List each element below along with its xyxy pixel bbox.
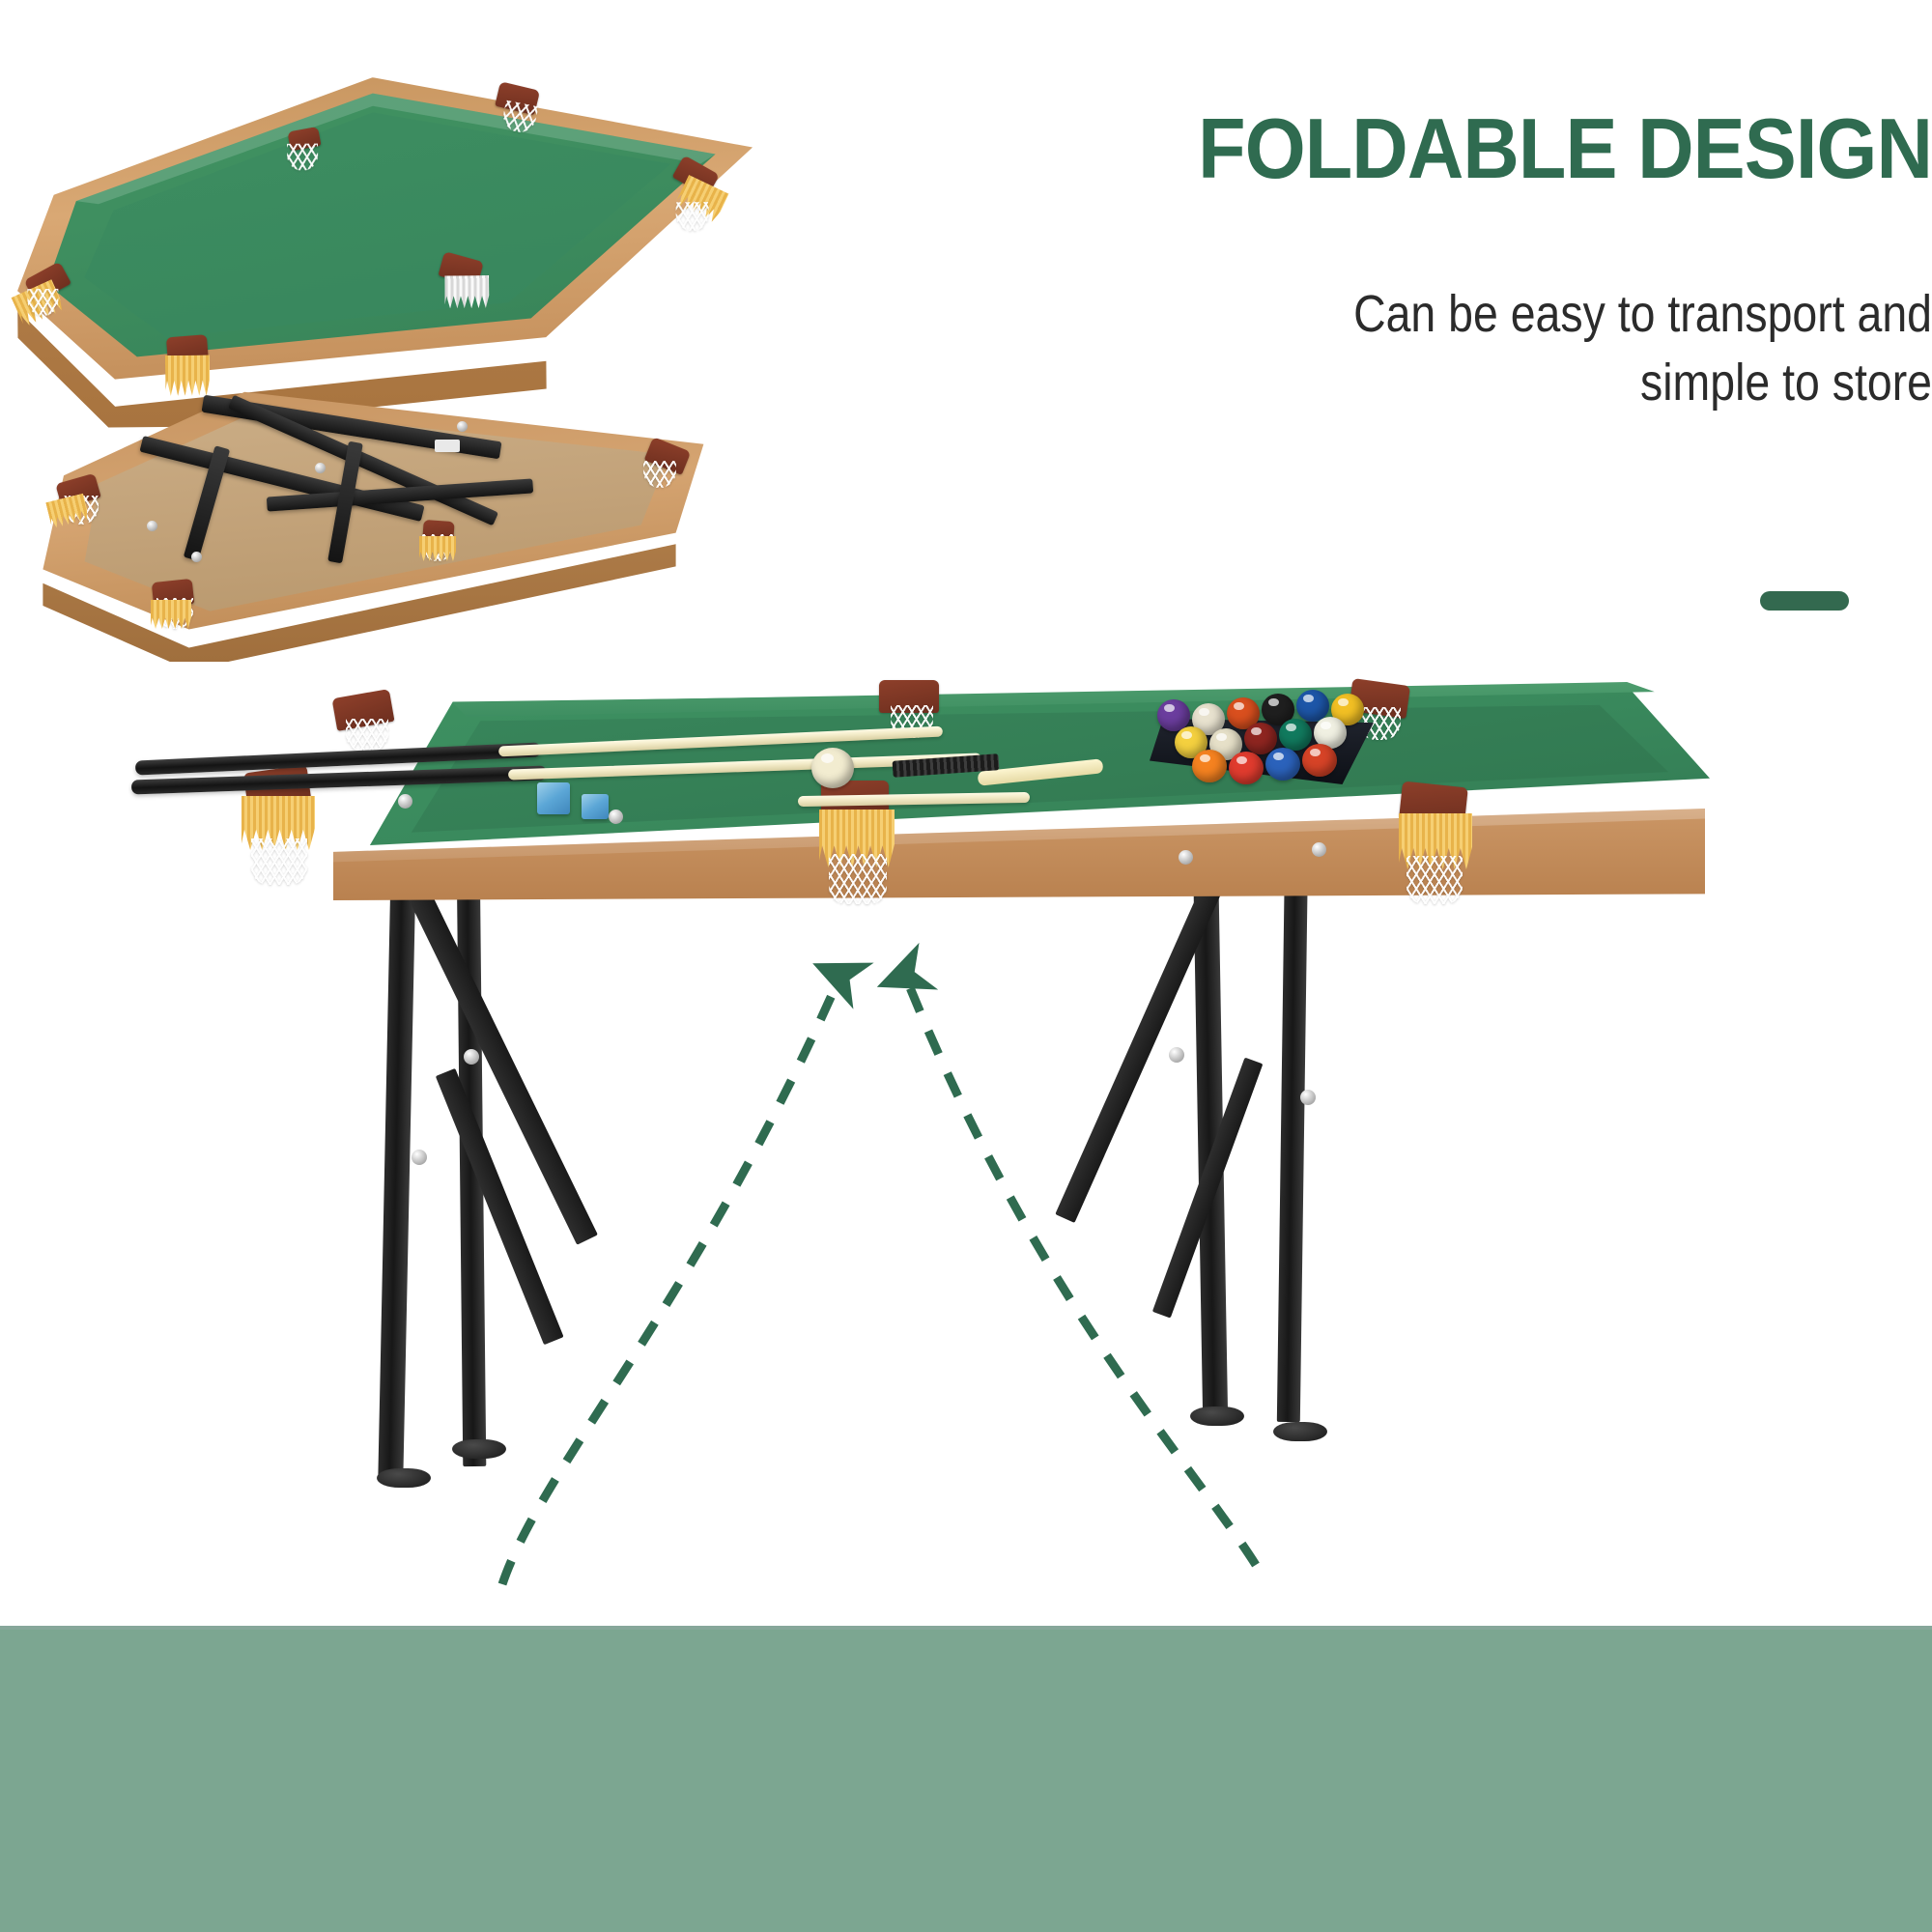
apron-screw-left bbox=[398, 794, 412, 809]
ball-rack-item bbox=[1302, 744, 1337, 777]
subtitle-line-1: Can be easy to transport and bbox=[1168, 280, 1932, 349]
cue-ball bbox=[811, 748, 854, 788]
floor-band bbox=[0, 1626, 1932, 1932]
product-sticker bbox=[435, 440, 460, 452]
leg-rivet-left-lower bbox=[412, 1150, 427, 1165]
apron-screw-right bbox=[1179, 850, 1193, 865]
leg-brace-left-lower bbox=[436, 1068, 564, 1345]
leg-rivet-right-upper bbox=[1169, 1047, 1184, 1063]
apron-screw-mid bbox=[609, 810, 623, 824]
foot-front-right bbox=[1190, 1406, 1244, 1426]
product-image-tabletop-angled bbox=[8, 74, 754, 429]
leg-rivet-left-upper bbox=[464, 1049, 479, 1065]
subtitle: Can be easy to transport and simple to s… bbox=[1168, 280, 1932, 418]
foot-rear-right bbox=[1273, 1422, 1327, 1441]
frame-rivet-1 bbox=[457, 421, 468, 432]
table-pocket-net-front-right bbox=[1406, 856, 1463, 904]
table-pocket-net-front-left bbox=[251, 838, 307, 885]
frame-rivet-3 bbox=[147, 521, 157, 531]
leg-front-left bbox=[378, 862, 415, 1480]
table-pocket-net-front-mid bbox=[829, 854, 887, 904]
apron-screw-far-right bbox=[1312, 842, 1326, 857]
ball-rack-item bbox=[1192, 750, 1227, 782]
divider-dash bbox=[1760, 591, 1849, 611]
product-image-assembled-table bbox=[145, 676, 1884, 1642]
frame-rivet-2 bbox=[315, 463, 326, 473]
chalk-cube-1 bbox=[537, 782, 570, 814]
frame-rivet-4 bbox=[191, 552, 202, 562]
leg-rivet-right-lower bbox=[1300, 1090, 1316, 1105]
ball-rack-item bbox=[1229, 752, 1264, 784]
foot-front-left bbox=[377, 1468, 431, 1488]
chalk-cube-2 bbox=[582, 794, 609, 819]
foot-rear-left bbox=[452, 1439, 506, 1459]
table-pocket-net-back-left bbox=[346, 719, 388, 752]
leg-rear-right bbox=[1277, 842, 1308, 1422]
ball-rack-item bbox=[1265, 748, 1300, 781]
pocket-net-right bbox=[676, 202, 709, 231]
product-image-folded-underside bbox=[29, 382, 724, 662]
page-title: FOLDABLE DESIGN bbox=[1061, 106, 1932, 191]
ball-rack-item bbox=[1279, 719, 1312, 751]
marketing-banner: FOLDABLE DESIGN Can be easy to transport… bbox=[0, 0, 1932, 1932]
subtitle-line-2: simple to store bbox=[1168, 349, 1932, 417]
